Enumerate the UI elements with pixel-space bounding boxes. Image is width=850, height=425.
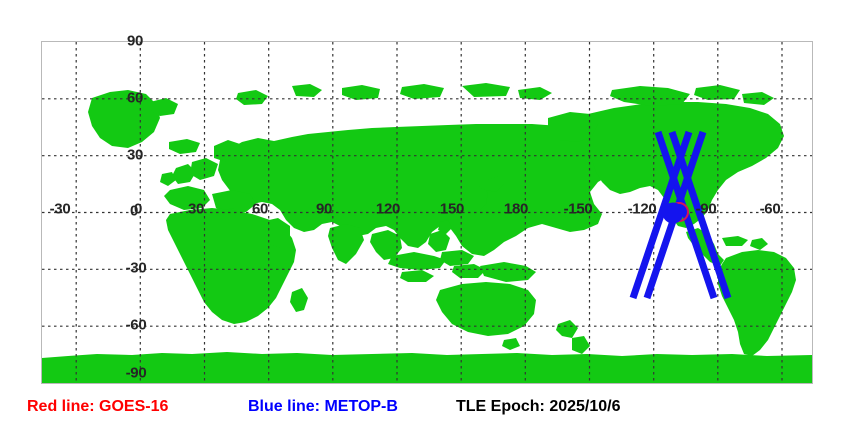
lon-label-minus90: -90 xyxy=(696,202,717,217)
satellite-ground-track-map: 90 60 30 0 -30 -60 -90 -30 0 30 60 90 12… xyxy=(0,0,850,425)
lon-label-minus30: -30 xyxy=(50,202,71,217)
lon-label-minus120: -120 xyxy=(628,202,657,217)
lon-label-30: 30 xyxy=(188,202,204,217)
lat-label-60: 60 xyxy=(127,91,143,106)
metop-b-position-marker xyxy=(663,203,684,224)
lat-label-minus60: -60 xyxy=(126,318,147,333)
legend: Red line: GOES-16 Blue line: METOP-B TLE… xyxy=(0,392,850,425)
lat-label-minus90: -90 xyxy=(126,366,147,381)
lon-label-0: 0 xyxy=(134,202,142,217)
lat-label-90: 90 xyxy=(127,34,143,49)
lon-label-150: 150 xyxy=(440,202,464,217)
legend-red-line-goes16: Red line: GOES-16 xyxy=(27,397,168,417)
lon-label-minus150: -150 xyxy=(564,202,593,217)
lon-label-90: 90 xyxy=(316,202,332,217)
lat-label-minus30: -30 xyxy=(126,261,147,276)
legend-blue-line-metopb: Blue line: METOP-B xyxy=(248,397,398,417)
lon-label-minus60: -60 xyxy=(760,202,781,217)
lon-label-60: 60 xyxy=(252,202,268,217)
lat-label-30: 30 xyxy=(127,148,143,163)
lon-label-120: 120 xyxy=(376,202,400,217)
legend-tle-epoch: TLE Epoch: 2025/10/6 xyxy=(456,397,621,417)
lon-label-180: 180 xyxy=(504,202,528,217)
